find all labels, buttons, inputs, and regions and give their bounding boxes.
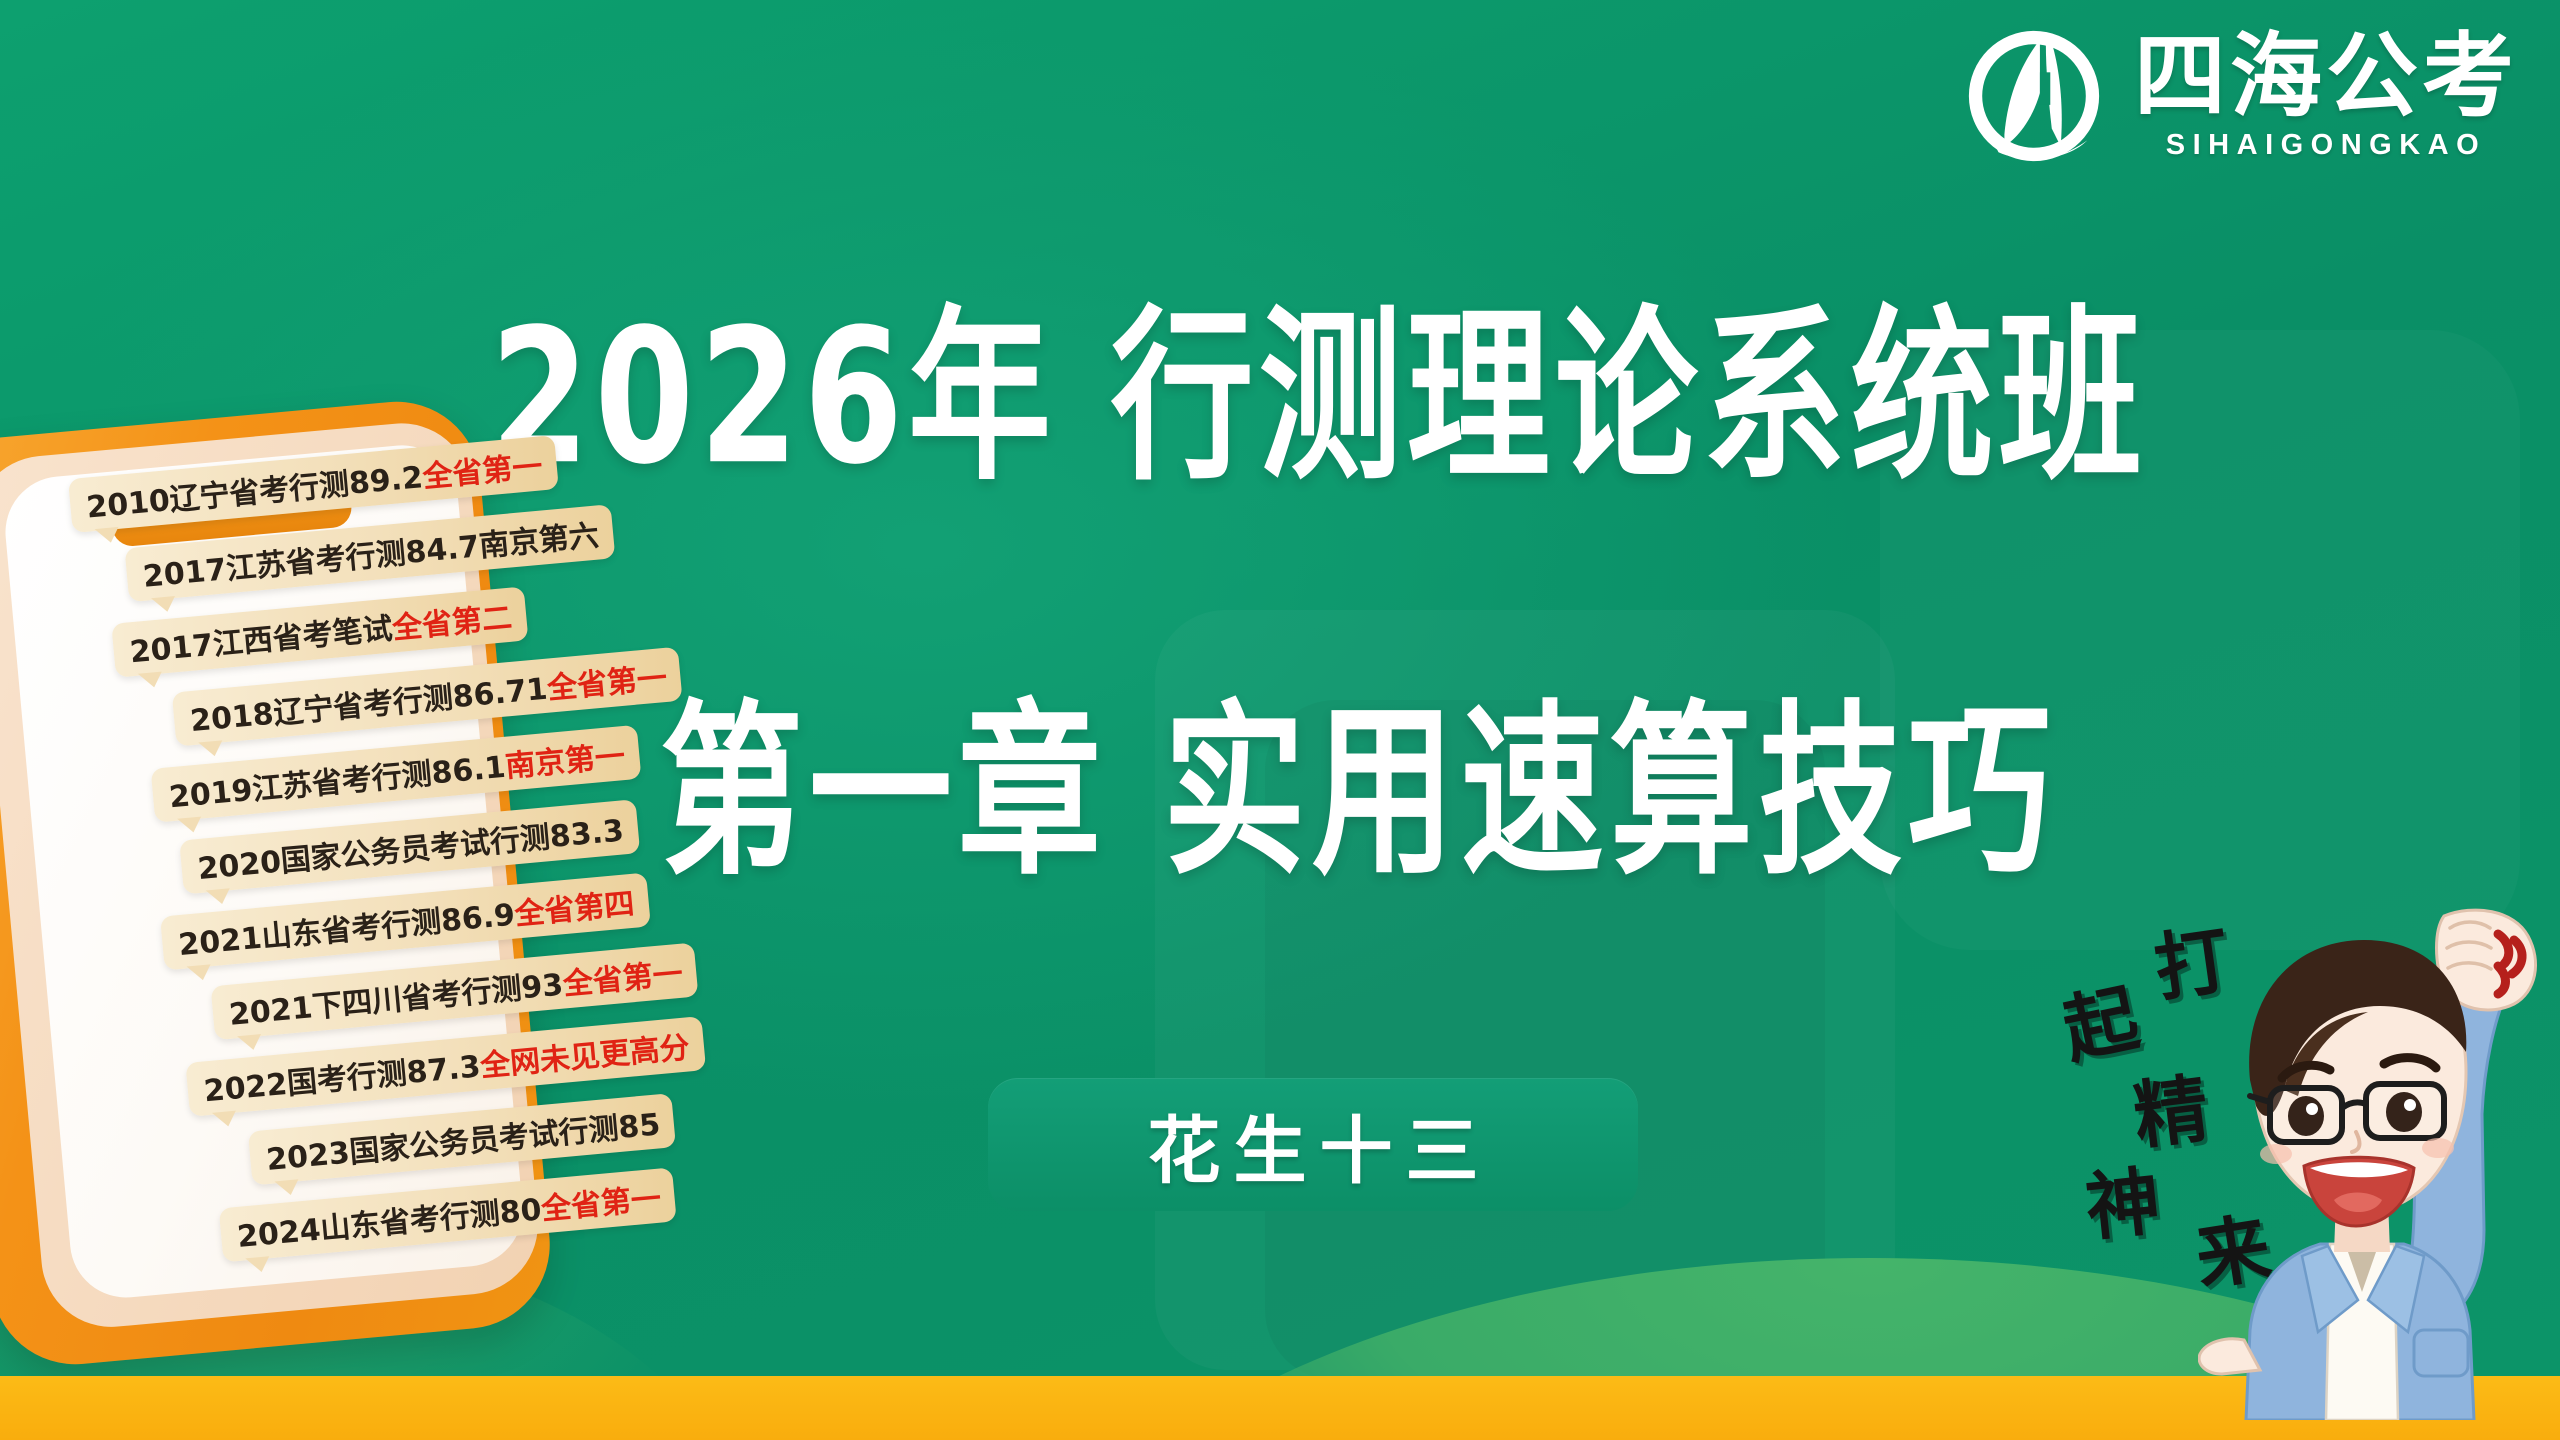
achievement-highlight: 全省第一 bbox=[420, 441, 543, 496]
brand-logo: 四海公考 SIHAIGONGKAO bbox=[1960, 22, 2518, 170]
achievement-list: 2010辽宁省考行测89.2全省第一2017江苏省考行测84.7南京第六2017… bbox=[60, 417, 831, 1291]
achievement-highlight: 全省第二 bbox=[390, 593, 513, 648]
instructor-badge: 花生十三 bbox=[988, 1078, 1638, 1211]
achievement-highlight: 全省第一 bbox=[545, 653, 668, 708]
sailboat-circle-emblem-icon bbox=[1960, 22, 2108, 170]
achievement-text: 2020国家公务员考试行测83.3 bbox=[196, 805, 626, 888]
instructor-name: 花生十三 bbox=[1135, 1092, 1492, 1198]
mascot-zone: 打 起 精 神 来 bbox=[2030, 900, 2560, 1440]
mascot-illustration bbox=[2198, 900, 2560, 1420]
calligraphy-char-1: 起 bbox=[2057, 981, 2145, 1069]
calligraphy-char-3: 神 bbox=[2082, 1164, 2163, 1245]
page-subtitle: 第一章 实用速算技巧 bbox=[660, 695, 2560, 890]
achievement-text: 2017江西省考笔试 bbox=[128, 604, 394, 672]
course-poster: 四海公考 SIHAIGONGKAO 2026年 行测理论系统班 第一章 实用速算… bbox=[0, 0, 2560, 1440]
brand-name-en: SIHAIGONGKAO bbox=[2134, 129, 2518, 162]
achievement-highlight: 全省第四 bbox=[513, 879, 636, 934]
achievement-text: 2017江苏省考行测84.7南京第六 bbox=[141, 511, 601, 596]
achievement-text: 2023国家公务员考试行测85 bbox=[264, 1099, 662, 1179]
achievement-chip: 2023国家公务员考试行测85 bbox=[248, 1093, 676, 1185]
achievement-highlight: 全省第一 bbox=[539, 1174, 662, 1229]
brand-name-cn: 四海公考 bbox=[2134, 31, 2518, 123]
achievement-highlight: 南京第一 bbox=[503, 731, 626, 786]
page-title: 2026年 行测理论系统班 bbox=[490, 300, 2560, 495]
achievement-highlight: 全网未见更高分 bbox=[478, 1022, 691, 1085]
achievement-text: 2018辽宁省考行测86.71 bbox=[188, 664, 549, 740]
achievement-text: 2021下四川省考行测93 bbox=[227, 960, 565, 1034]
achievement-highlight: 全省第一 bbox=[561, 949, 684, 1004]
achievement-text: 2022国考行测87.3 bbox=[202, 1041, 482, 1110]
